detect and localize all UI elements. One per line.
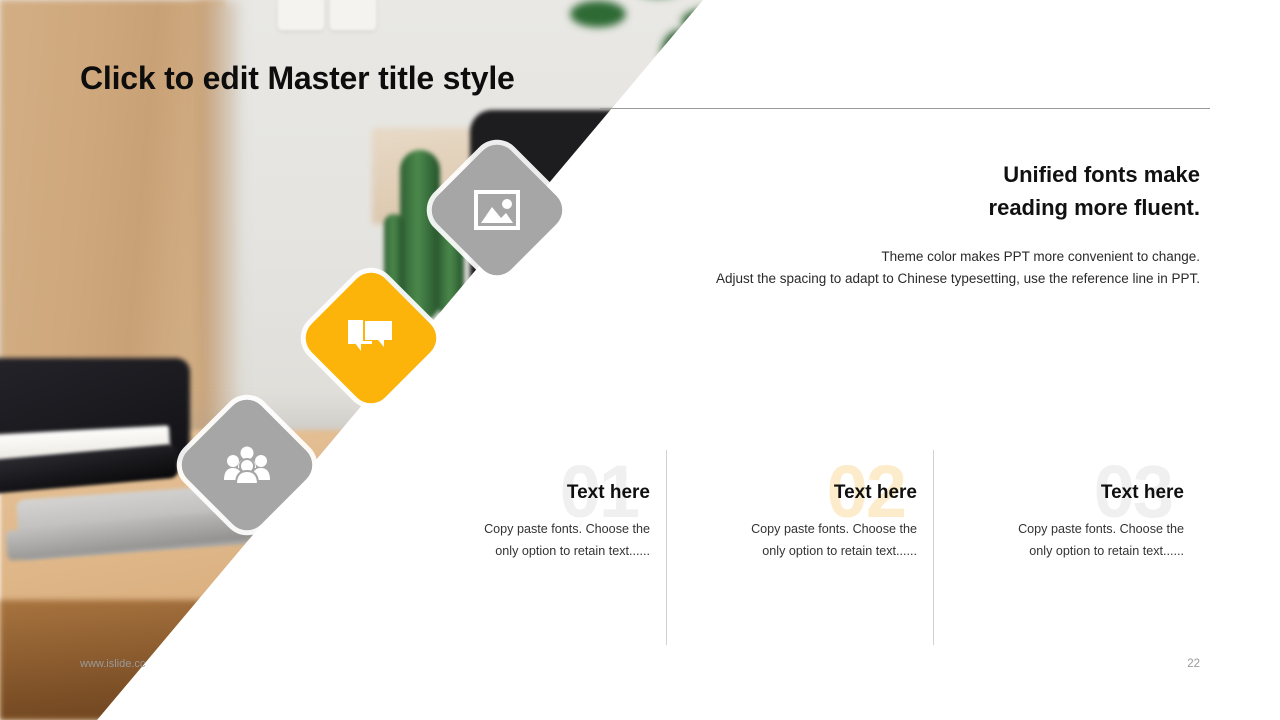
column-description: Copy paste fonts. Choose the only option… [400, 519, 664, 562]
column-desc-line1: Copy paste fonts. Choose the [667, 519, 917, 541]
column-desc-line2: only option to retain text...... [934, 541, 1184, 563]
column-description: Copy paste fonts. Choose the only option… [667, 519, 931, 562]
intro-body: Theme color makes PPT more convenient to… [580, 246, 1200, 290]
people-icon [224, 446, 270, 484]
intro-block: Unified fonts make reading more fluent. … [580, 158, 1200, 290]
intro-body-line2: Adjust the spacing to adapt to Chinese t… [580, 268, 1200, 290]
feature-column-02: 02 Text here Copy paste fonts. Choose th… [666, 450, 933, 645]
title-divider [600, 108, 1210, 109]
chat-icon [347, 317, 395, 359]
column-title: Text here [934, 482, 1198, 504]
page-title: Click to edit Master title style [80, 60, 515, 97]
column-title: Text here [667, 482, 931, 504]
intro-heading-line2: reading more fluent. [580, 191, 1200, 224]
column-desc-line1: Copy paste fonts. Choose the [400, 519, 650, 541]
slide-canvas: Click to edit Master title style [0, 0, 1280, 720]
intro-body-line1: Theme color makes PPT more convenient to… [580, 246, 1200, 268]
image-icon [474, 190, 520, 230]
intro-heading: Unified fonts make reading more fluent. [580, 158, 1200, 224]
column-desc-line1: Copy paste fonts. Choose the [934, 519, 1184, 541]
feature-column-03: 03 Text here Copy paste fonts. Choose th… [933, 450, 1200, 645]
column-description: Copy paste fonts. Choose the only option… [934, 519, 1198, 562]
feature-column-01: 01 Text here Copy paste fonts. Choose th… [400, 450, 666, 645]
column-desc-line2: only option to retain text...... [400, 541, 650, 563]
column-title: Text here [400, 482, 664, 504]
page-number: 22 [1187, 658, 1200, 670]
feature-columns: 01 Text here Copy paste fonts. Choose th… [400, 450, 1200, 645]
intro-heading-line1: Unified fonts make [580, 158, 1200, 191]
column-desc-line2: only option to retain text...... [667, 541, 917, 563]
footer-url[interactable]: www.islide.cc [80, 658, 145, 670]
